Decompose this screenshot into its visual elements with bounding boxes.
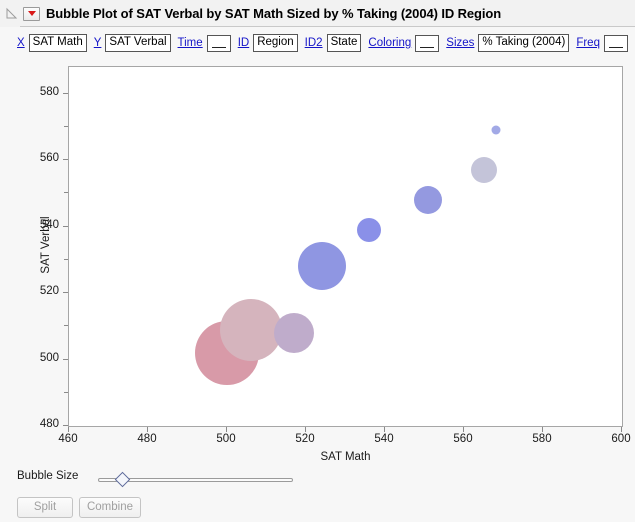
x-tick-label: 520 bbox=[285, 433, 325, 445]
x-tick-major bbox=[384, 427, 385, 432]
variable-role-toolbar: XSAT MathYSAT VerbalTimeIDRegionID2State… bbox=[0, 31, 635, 55]
role-value-coloring[interactable] bbox=[415, 35, 439, 52]
bubble-plot-window: Bubble Plot of SAT Verbal by SAT Math Si… bbox=[0, 0, 635, 522]
role-label-time[interactable]: Time bbox=[178, 37, 203, 49]
x-tick-major bbox=[147, 427, 148, 432]
y-tick-minor bbox=[64, 259, 68, 260]
y-tick-label: 480 bbox=[26, 418, 59, 430]
slider-thumb[interactable] bbox=[115, 472, 131, 488]
bubble-point[interactable] bbox=[491, 126, 500, 135]
y-tick-label: 580 bbox=[26, 86, 59, 98]
y-tick-minor bbox=[64, 126, 68, 127]
bubble-point[interactable] bbox=[220, 299, 282, 361]
role-value-freq[interactable] bbox=[604, 35, 628, 52]
red-triangle-menu-icon[interactable] bbox=[23, 7, 40, 21]
x-tick-label: 540 bbox=[364, 433, 404, 445]
role-label-freq[interactable]: Freq bbox=[576, 37, 600, 49]
y-tick-major bbox=[63, 159, 68, 160]
plot-frame[interactable] bbox=[68, 66, 623, 427]
role-value-sizes[interactable]: % Taking (2004) bbox=[478, 34, 569, 52]
bubble-point[interactable] bbox=[274, 313, 314, 353]
role-value-y[interactable]: SAT Verbal bbox=[105, 34, 170, 52]
role-label-coloring[interactable]: Coloring bbox=[368, 37, 411, 49]
y-tick-major bbox=[63, 93, 68, 94]
y-tick-minor bbox=[64, 325, 68, 326]
bubble-point[interactable] bbox=[298, 242, 346, 290]
role-label-x[interactable]: X bbox=[17, 37, 25, 49]
x-tick-major bbox=[621, 427, 622, 432]
bubble-point[interactable] bbox=[357, 218, 381, 242]
x-axis-title: SAT Math bbox=[296, 451, 396, 463]
x-tick-label: 480 bbox=[127, 433, 167, 445]
bubble-point[interactable] bbox=[414, 186, 442, 214]
combine-button[interactable]: Combine bbox=[79, 497, 141, 518]
role-value-id2[interactable]: State bbox=[327, 34, 362, 52]
role-value-x[interactable]: SAT Math bbox=[29, 34, 87, 52]
x-tick-major bbox=[542, 427, 543, 432]
role-label-id[interactable]: ID bbox=[238, 37, 250, 49]
y-tick-major bbox=[63, 292, 68, 293]
role-label-id2[interactable]: ID2 bbox=[305, 37, 323, 49]
titlebar-divider bbox=[20, 26, 635, 27]
y-tick-major bbox=[63, 359, 68, 360]
window-titlebar: Bubble Plot of SAT Verbal by SAT Math Si… bbox=[0, 0, 635, 27]
role-label-sizes[interactable]: Sizes bbox=[446, 37, 474, 49]
y-tick-label: 500 bbox=[26, 352, 59, 364]
y-tick-label: 560 bbox=[26, 152, 59, 164]
split-button[interactable]: Split bbox=[17, 497, 73, 518]
button-row: Split Combine bbox=[17, 497, 141, 518]
page-title: Bubble Plot of SAT Verbal by SAT Math Si… bbox=[46, 6, 501, 21]
bubble-controls: Bubble Size Split Combine bbox=[0, 470, 635, 522]
x-tick-label: 580 bbox=[522, 433, 562, 445]
role-label-y[interactable]: Y bbox=[94, 37, 102, 49]
triangle-glyph bbox=[28, 11, 36, 16]
x-tick-label: 500 bbox=[206, 433, 246, 445]
y-tick-major bbox=[63, 226, 68, 227]
x-tick-major bbox=[226, 427, 227, 432]
y-tick-minor bbox=[64, 192, 68, 193]
disclosure-triangle-icon[interactable] bbox=[5, 7, 18, 20]
x-tick-major bbox=[68, 427, 69, 432]
y-axis-title: SAT Verbal bbox=[40, 205, 52, 285]
x-tick-label: 600 bbox=[601, 433, 635, 445]
x-tick-major bbox=[463, 427, 464, 432]
graph-region: 4805005205405605804604805005205405605806… bbox=[0, 56, 635, 466]
bubble-size-label: Bubble Size bbox=[17, 470, 78, 482]
y-tick-minor bbox=[64, 392, 68, 393]
role-value-id[interactable]: Region bbox=[253, 34, 297, 52]
bubble-point[interactable] bbox=[471, 157, 497, 183]
x-tick-label: 560 bbox=[443, 433, 483, 445]
bubble-size-slider[interactable] bbox=[98, 477, 293, 482]
y-tick-major bbox=[63, 425, 68, 426]
y-tick-label: 520 bbox=[26, 285, 59, 297]
role-value-time[interactable] bbox=[207, 35, 231, 52]
x-tick-major bbox=[305, 427, 306, 432]
x-tick-label: 460 bbox=[48, 433, 88, 445]
